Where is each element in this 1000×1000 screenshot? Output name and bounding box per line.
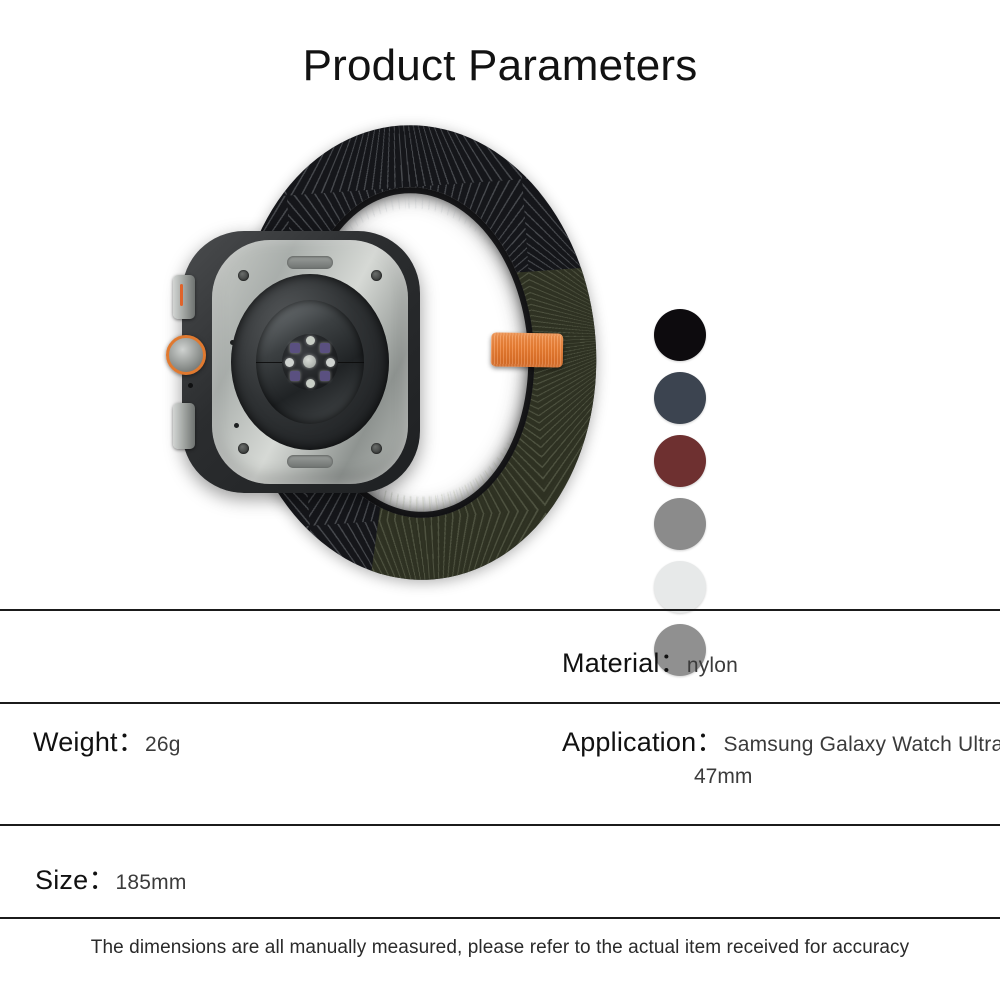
spec-material-label: Material： [562,648,687,678]
divider-1 [0,609,1000,611]
watch-screw-bottom-left [238,443,249,454]
divider-4 [0,917,1000,919]
sensor-led-right [326,358,335,367]
spec-size: Size：185mm [35,858,187,897]
watch-sensor-glass [256,300,364,424]
color-swatch-maroon[interactable] [654,435,706,487]
measurement-disclaimer: The dimensions are all manually measured… [0,937,1000,959]
spec-application-label: Application： [562,727,724,757]
spec-material-value: nylon [687,654,738,677]
watch-back-plate [212,240,408,484]
spec-weight-value: 26g [145,733,181,756]
watch-sensor-ring [231,274,389,450]
watch-side-button-bottom [173,403,195,449]
band-pull-tab-icon [491,332,564,367]
watch-heart-rate-sensor-icon [282,334,338,390]
watch-case [182,231,420,493]
page-title: Product Parameters [0,42,1000,90]
color-swatch-gray[interactable] [654,498,706,550]
product-image [0,105,1000,605]
sensor-led-bottom [306,379,315,388]
watch-side-button-top [173,275,195,319]
color-swatch-black[interactable] [654,309,706,361]
divider-3 [0,824,1000,826]
spec-size-label: Size： [35,865,116,895]
watch-vent-bottom [287,455,333,468]
spec-application: Application：Samsung Galaxy Watch Ultra [562,720,1000,759]
watch-crown-icon [166,335,206,375]
sensor-led-left [285,358,294,367]
sensor-led-diag-bl [290,371,300,381]
spec-application-value: Samsung Galaxy Watch Ultra [724,733,1000,756]
spec-material: Material：nylon [562,641,738,680]
watch-vent-top [287,256,333,269]
spec-weight-label: Weight： [33,727,145,757]
watch-back-dot-lower [234,423,239,428]
watch-microphone-dot-icon [188,383,193,388]
color-swatch-slate-blue[interactable] [654,372,706,424]
sensor-led-diag-tl [290,343,300,353]
sensor-led-diag-tr [320,343,330,353]
divider-2 [0,702,1000,704]
color-swatch-white[interactable] [654,561,706,613]
spec-weight: Weight：26g [33,720,181,759]
sensor-led-diag-br [320,371,330,381]
sensor-led-top [306,336,315,345]
spec-application-value-line2: 47mm [694,765,752,789]
sensor-led-center [303,355,316,368]
color-swatch-list [654,309,714,687]
spec-size-value: 185mm [116,871,187,894]
watch-screw-top-left [238,270,249,281]
watch-screw-top-right [371,270,382,281]
watch-screw-bottom-right [371,443,382,454]
